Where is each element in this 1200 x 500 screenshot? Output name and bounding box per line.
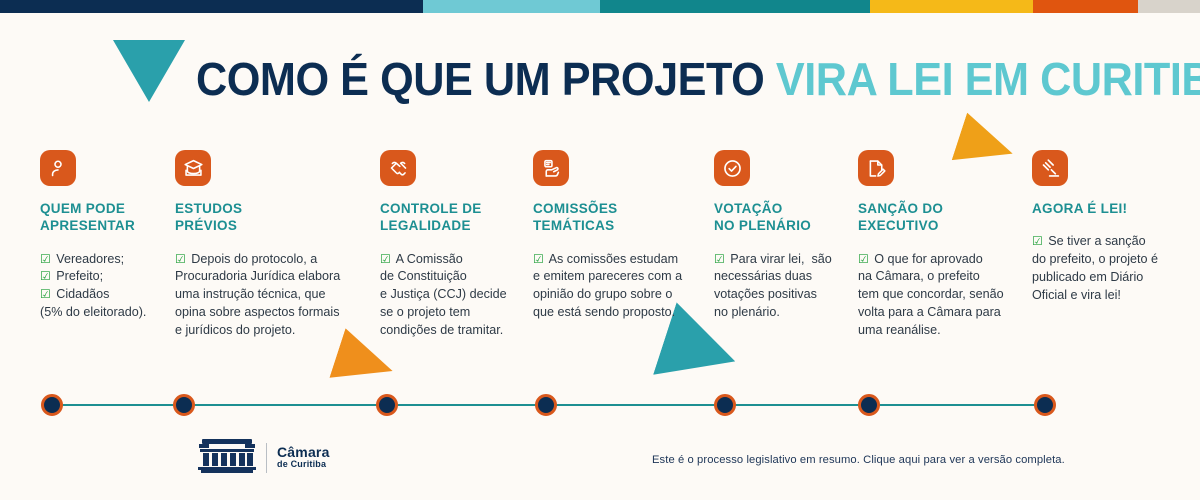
step-bullet: ☑ O que for aprovado na Câmara, o prefei… [858,251,1023,340]
step-bullet: ☑ Para virar lei, são necessárias duas v… [714,251,854,323]
step-body: ☑ Depois do protocolo, a Procuradoria Ju… [175,251,350,340]
step-bullet: ☑ Se tiver a sanção do prefeito, o proje… [1032,233,1172,305]
bullet-text: As comissões estudam e emitem pareceres … [533,252,682,320]
checkbox-icon: ☑ [380,252,391,266]
bullet-text: Cidadãos (5% do eleitorado). [40,287,146,319]
person-icon [40,150,76,186]
footer-note[interactable]: Este é o processo legislativo em resumo.… [652,454,1065,466]
checkbox-icon: ☑ [40,269,51,283]
timeline-dot-4 [535,394,557,416]
sign-document-icon [858,150,894,186]
step-body: ☑ A Comissão de Constituição e Justiça (… [380,251,528,340]
page-title: COMO É QUE UM PROJETO VIRA LEI EM CURITI… [196,56,1200,102]
camara-logo: Câmara de Curitiba [198,437,330,478]
bullet-text: A Comissão de Constituição e Justiça (CC… [380,252,507,338]
step-title: SANÇÃO DO EXECUTIVO [858,200,1023,235]
checkbox-icon: ☑ [533,252,544,266]
bullet-text: O que for aprovado na Câmara, o prefeito… [858,252,1004,338]
step-body: ☑ As comissões estudam e emitem parecere… [533,251,693,323]
checkbox-icon: ☑ [1032,234,1043,248]
gavel-icon [1032,150,1068,186]
timeline-dot-3 [376,394,398,416]
study-icon [175,150,211,186]
bullet-text: Depois do protocolo, a Procuradoria Jurí… [175,252,340,338]
topbar-segment-light-teal [423,0,600,13]
step-bullet: ☑ As comissões estudam e emitem parecere… [533,251,693,323]
step-title: VOTAÇÃO NO PLENÁRIO [714,200,854,235]
step-column-5: VOTAÇÃO NO PLENÁRIO☑ Para virar lei, são… [714,150,854,322]
handshake-icon [380,150,416,186]
step-column-2: ESTUDOS PRÉVIOS☑ Depois do protocolo, a … [175,150,350,340]
timeline-dot-5 [714,394,736,416]
timeline-dot-1 [41,394,63,416]
checkbox-icon: ☑ [714,252,725,266]
topbar-segment-orange [1033,0,1138,13]
step-column-7: AGORA É LEI!☑ Se tiver a sanção do prefe… [1032,150,1172,305]
step-title: ESTUDOS PRÉVIOS [175,200,350,235]
checkbox-icon: ☑ [175,252,186,266]
step-body: ☑ Se tiver a sanção do prefeito, o proje… [1032,233,1172,305]
infographic-page: COMO É QUE UM PROJETO VIRA LEI EM CURITI… [0,0,1200,500]
review-hand-icon [533,150,569,186]
topbar-segment-beige [1138,0,1200,13]
triangle-teal-top-left [113,40,185,102]
step-column-6: SANÇÃO DO EXECUTIVO☑ O que for aprovado … [858,150,1023,340]
checkbox-icon: ☑ [858,252,869,266]
timeline-dot-2 [173,394,195,416]
step-bullet: ☑ Cidadãos (5% do eleitorado). [40,286,172,322]
logo-line2: de Curitiba [277,460,330,469]
topbar-segment-teal [600,0,870,13]
step-body: ☑ Para virar lei, são necessárias duas v… [714,251,854,323]
step-bullet: ☑ A Comissão de Constituição e Justiça (… [380,251,528,340]
timeline-dot-7 [1034,394,1056,416]
step-bullet: ☑ Vereadores; [40,251,172,269]
step-bullet: ☑ Depois do protocolo, a Procuradoria Ju… [175,251,350,340]
logo-divider [266,443,267,473]
page-title-part2: VIRA LEI EM CURITIBA [776,53,1200,105]
bullet-text: Prefeito; [56,269,103,283]
timeline-dot-6 [858,394,880,416]
steps-container: QUEM PODE APRESENTAR☑ Vereadores;☑ Prefe… [0,150,1200,350]
check-circle-icon [714,150,750,186]
step-column-1: QUEM PODE APRESENTAR☑ Vereadores;☑ Prefe… [40,150,172,322]
step-title: CONTROLE DE LEGALIDADE [380,200,528,235]
step-column-4: COMISSÕES TEMÁTICAS☑ As comissões estuda… [533,150,693,322]
logo-line1: Câmara [277,445,330,460]
checkbox-icon: ☑ [40,252,51,266]
step-body: ☑ Vereadores;☑ Prefeito;☑ Cidadãos (5% d… [40,251,172,323]
top-color-bar [0,0,1200,13]
step-title: COMISSÕES TEMÁTICAS [533,200,693,235]
bullet-text: Se tiver a sanção do prefeito, o projeto… [1032,234,1158,302]
step-body: ☑ O que for aprovado na Câmara, o prefei… [858,251,1023,340]
step-column-3: CONTROLE DE LEGALIDADE☑ A Comissão de Co… [380,150,528,340]
logo-text: Câmara de Curitiba [277,445,330,469]
step-bullet: ☑ Prefeito; [40,268,172,286]
checkbox-icon: ☑ [40,287,51,301]
bullet-text: Para virar lei, são necessárias duas vot… [714,252,832,320]
topbar-segment-navy [0,0,423,13]
step-title: QUEM PODE APRESENTAR [40,200,172,235]
page-title-part1: COMO É QUE UM PROJETO [196,53,764,105]
topbar-segment-yellow [870,0,1033,13]
step-title: AGORA É LEI! [1032,200,1172,217]
bullet-text: Vereadores; [56,252,124,266]
camara-building-icon [198,437,256,478]
